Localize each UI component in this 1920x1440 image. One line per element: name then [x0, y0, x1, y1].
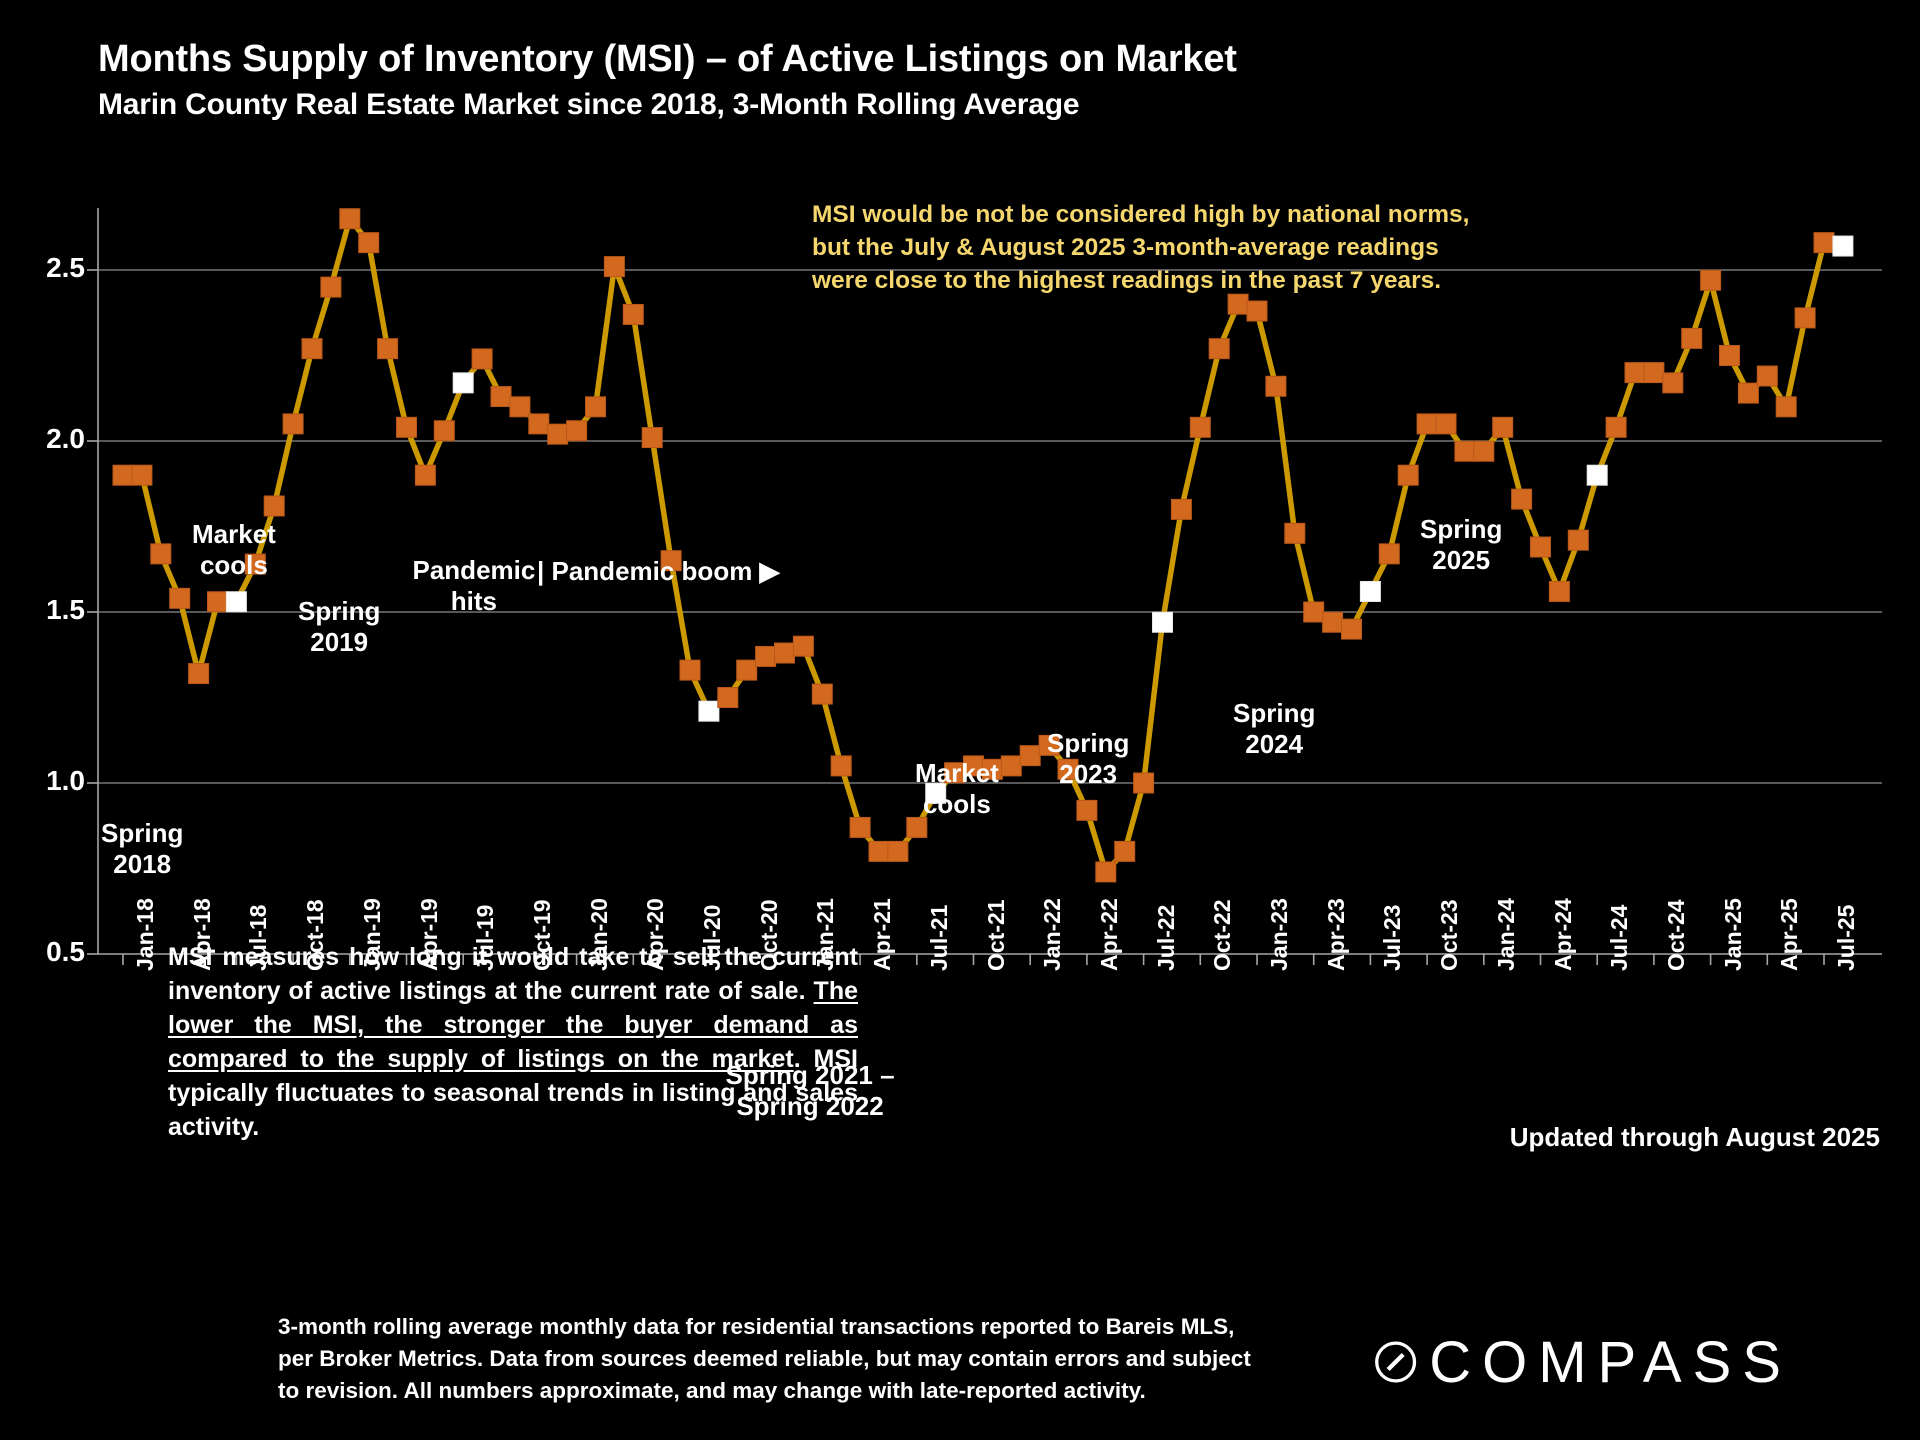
data-point — [510, 397, 530, 417]
data-point — [113, 465, 133, 485]
data-point-highlight — [1360, 581, 1380, 601]
data-point — [1304, 602, 1324, 622]
x-axis-tick-label: Apr-24 — [1550, 898, 1577, 971]
updated-label: Updated through August 2025 — [1510, 1122, 1880, 1153]
data-point — [1568, 530, 1588, 550]
data-point — [472, 349, 492, 369]
data-point — [567, 421, 587, 441]
data-point — [793, 636, 813, 656]
data-point — [604, 257, 624, 277]
annotation-spring-2019: Spring2019 — [298, 596, 380, 658]
data-point — [491, 387, 511, 407]
data-point — [1398, 465, 1418, 485]
footer-line-3: to revision. All numbers approximate, an… — [278, 1375, 1348, 1407]
data-point — [1209, 339, 1229, 359]
compass-mark-icon — [1372, 1323, 1419, 1401]
description-paragraph: MSI measures how long it would take to s… — [168, 940, 858, 1144]
annotation-market-cools-2018: Marketcools — [192, 519, 276, 581]
data-point — [1776, 397, 1796, 417]
data-point — [1077, 800, 1097, 820]
data-point-highlight — [699, 701, 719, 721]
data-point — [397, 417, 417, 437]
x-axis-tick-label: Apr-21 — [869, 898, 896, 971]
footer-line-1: 3-month rolling average monthly data for… — [278, 1311, 1348, 1343]
data-point-highlight — [1833, 236, 1853, 256]
x-axis-tick-label: Jan-24 — [1493, 898, 1520, 971]
annotation-pandemic-hits: Pandemichits — [413, 555, 536, 617]
data-point — [1814, 233, 1834, 253]
data-point — [359, 233, 379, 253]
data-point — [1417, 414, 1437, 434]
data-point — [1757, 366, 1777, 386]
data-point — [132, 465, 152, 485]
data-point — [831, 756, 851, 776]
x-axis-tick-label: Jul-24 — [1606, 905, 1633, 971]
data-point — [642, 428, 662, 448]
data-point — [1663, 373, 1683, 393]
x-axis-tick-label: Apr-22 — [1096, 898, 1123, 971]
data-point — [1701, 270, 1721, 290]
x-axis-tick-label: Oct-23 — [1436, 899, 1463, 971]
data-point — [302, 339, 322, 359]
x-axis-tick-label: Jul-21 — [926, 905, 953, 971]
data-point — [1795, 308, 1815, 328]
compass-wordmark: COMPASS — [1429, 1329, 1792, 1396]
x-axis-tick-label: Jan-25 — [1720, 898, 1747, 971]
data-point — [586, 397, 606, 417]
data-point — [1549, 581, 1569, 601]
y-axis-tick-label: 1.0 — [5, 765, 85, 797]
footer-note: 3-month rolling average monthly data for… — [278, 1311, 1348, 1407]
data-point — [1171, 499, 1191, 519]
data-point — [415, 465, 435, 485]
chart-slide: Months Supply of Inventory (MSI) – of Ac… — [0, 0, 1920, 1440]
x-axis-tick-label: Jan-23 — [1266, 898, 1293, 971]
data-point — [1493, 417, 1513, 437]
x-axis-tick-label: Jul-23 — [1379, 905, 1406, 971]
data-point — [434, 421, 454, 441]
data-point — [529, 414, 549, 434]
data-point — [1115, 841, 1135, 861]
data-point-highlight — [226, 592, 246, 612]
y-axis-tick-label: 0.5 — [5, 936, 85, 968]
data-point — [548, 424, 568, 444]
data-point — [1285, 523, 1305, 543]
data-point — [1531, 537, 1551, 557]
data-point — [1682, 328, 1702, 348]
data-point — [1720, 346, 1740, 366]
data-point-highlight — [1587, 465, 1607, 485]
data-point — [283, 414, 303, 434]
data-point — [1323, 612, 1343, 632]
data-point-highlight — [453, 373, 473, 393]
data-point — [1474, 441, 1494, 461]
data-point — [907, 817, 927, 837]
y-axis-tick-label: 2.5 — [5, 252, 85, 284]
data-point — [321, 277, 341, 297]
data-point — [737, 660, 757, 680]
chart-plot-area — [0, 0, 1920, 1440]
data-point — [1644, 363, 1664, 383]
data-point — [1134, 773, 1154, 793]
x-axis-tick-label: Oct-24 — [1663, 899, 1690, 971]
data-point — [775, 643, 795, 663]
data-point — [812, 684, 832, 704]
data-point-highlight — [1153, 612, 1173, 632]
data-point — [340, 209, 360, 229]
data-point — [623, 304, 643, 324]
x-axis-tick-label: Apr-23 — [1323, 898, 1350, 971]
data-point — [151, 544, 171, 564]
x-axis-tick-label: Jul-22 — [1153, 905, 1180, 971]
data-point — [1738, 383, 1758, 403]
x-axis-tick-label: Jul-25 — [1833, 905, 1860, 971]
data-point — [1266, 376, 1286, 396]
footer-line-2: per Broker Metrics. Data from sources de… — [278, 1343, 1348, 1375]
x-axis-tick-label: Jan-18 — [132, 898, 159, 971]
data-point — [718, 688, 738, 708]
paragraph-part-1: MSI measures how long it would take to s… — [168, 943, 858, 1005]
annotation-spring-2018: Spring2018 — [101, 818, 183, 880]
data-point — [888, 841, 908, 861]
x-axis-tick-label: Jan-22 — [1039, 898, 1066, 971]
data-point — [1001, 756, 1021, 776]
chart-svg — [0, 0, 1920, 1440]
data-point — [680, 660, 700, 680]
data-point — [850, 817, 870, 837]
data-point — [1512, 489, 1532, 509]
annotation-spring-2025: Spring2025 — [1420, 514, 1502, 576]
annotation-market-cools-2022: Marketcools — [915, 758, 999, 820]
data-point — [1096, 862, 1116, 882]
annotation-spring-2024: Spring2024 — [1233, 698, 1315, 760]
x-axis-tick-label: Apr-25 — [1776, 898, 1803, 971]
data-point — [208, 592, 228, 612]
y-axis-tick-label: 2.0 — [5, 423, 85, 455]
annotation-spring-2023: Spring2023 — [1047, 728, 1129, 790]
data-point — [1247, 301, 1267, 321]
data-point — [264, 496, 284, 516]
annotation-pandemic-boom: | Pandemic boom ▶ — [537, 556, 780, 587]
compass-logo: COMPASS — [1372, 1322, 1792, 1402]
x-axis-tick-label: Oct-21 — [983, 899, 1010, 971]
data-point — [1436, 414, 1456, 434]
data-point — [189, 664, 209, 684]
data-point — [1455, 441, 1475, 461]
data-point — [1342, 619, 1362, 639]
data-point — [1228, 294, 1248, 314]
data-point — [756, 646, 776, 666]
y-axis-tick-label: 1.5 — [5, 594, 85, 626]
data-point — [170, 588, 190, 608]
data-point — [1606, 417, 1626, 437]
data-point — [1625, 363, 1645, 383]
data-point — [1020, 746, 1040, 766]
data-point — [378, 339, 398, 359]
data-point — [1190, 417, 1210, 437]
x-axis-tick-label: Oct-22 — [1209, 899, 1236, 971]
data-point — [1379, 544, 1399, 564]
data-point — [869, 841, 889, 861]
